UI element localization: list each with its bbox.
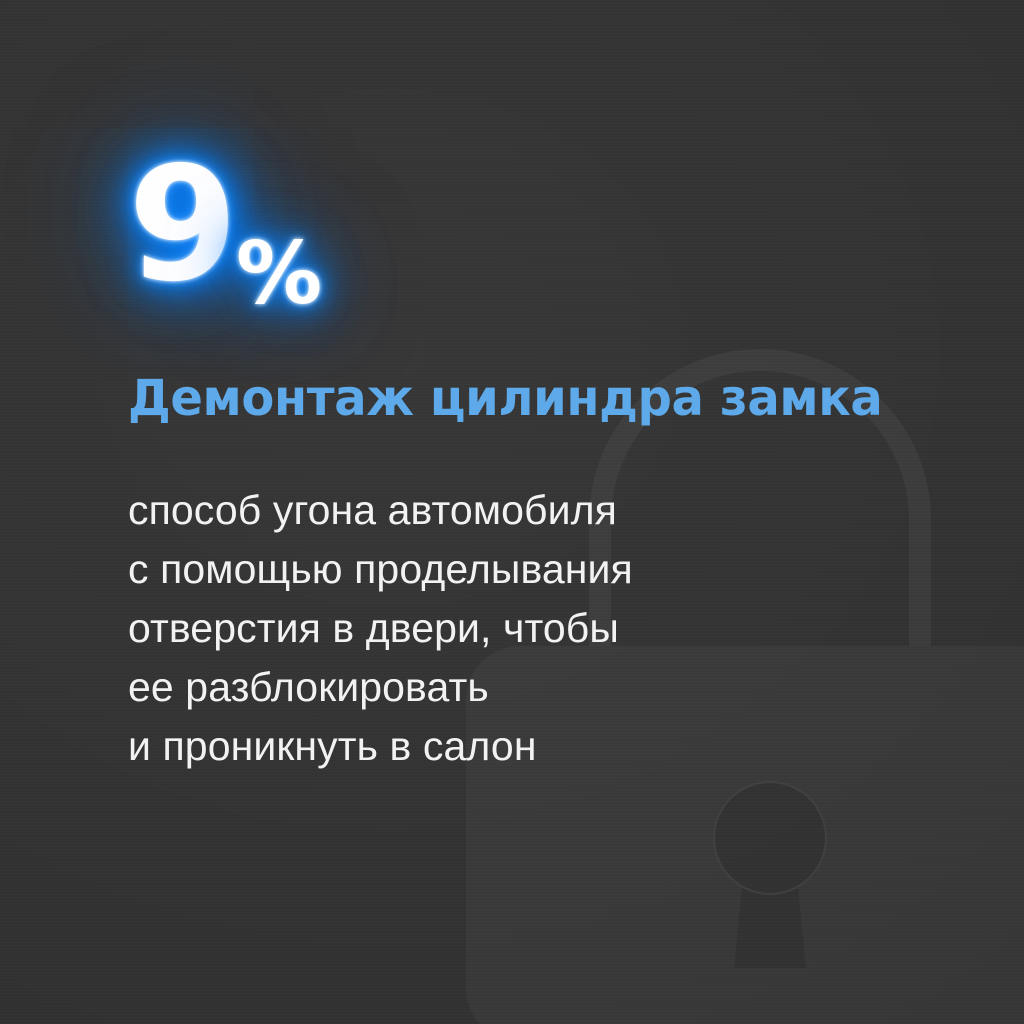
stat-number: 9 — [128, 146, 234, 304]
stat-unit-percent: % — [236, 231, 320, 317]
card-body-copy: способ угона автомобиля с помощью продел… — [128, 481, 633, 776]
body-line: способ угона автомобиля — [128, 481, 633, 540]
body-line: с помощью проделывания — [128, 540, 633, 599]
stat-block: 9 % — [128, 146, 320, 304]
infographic-card: 9 % Демонтаж цилиндра замка способ угона… — [0, 0, 1024, 1024]
body-line: и проникнуть в салон — [128, 717, 633, 776]
card-heading: Демонтаж цилиндра замка — [128, 369, 882, 427]
body-line: отверстия в двери, чтобы — [128, 599, 633, 658]
body-line: ее разблокировать — [128, 658, 633, 717]
card-content: 9 % Демонтаж цилиндра замка способ угона… — [0, 0, 1024, 1024]
